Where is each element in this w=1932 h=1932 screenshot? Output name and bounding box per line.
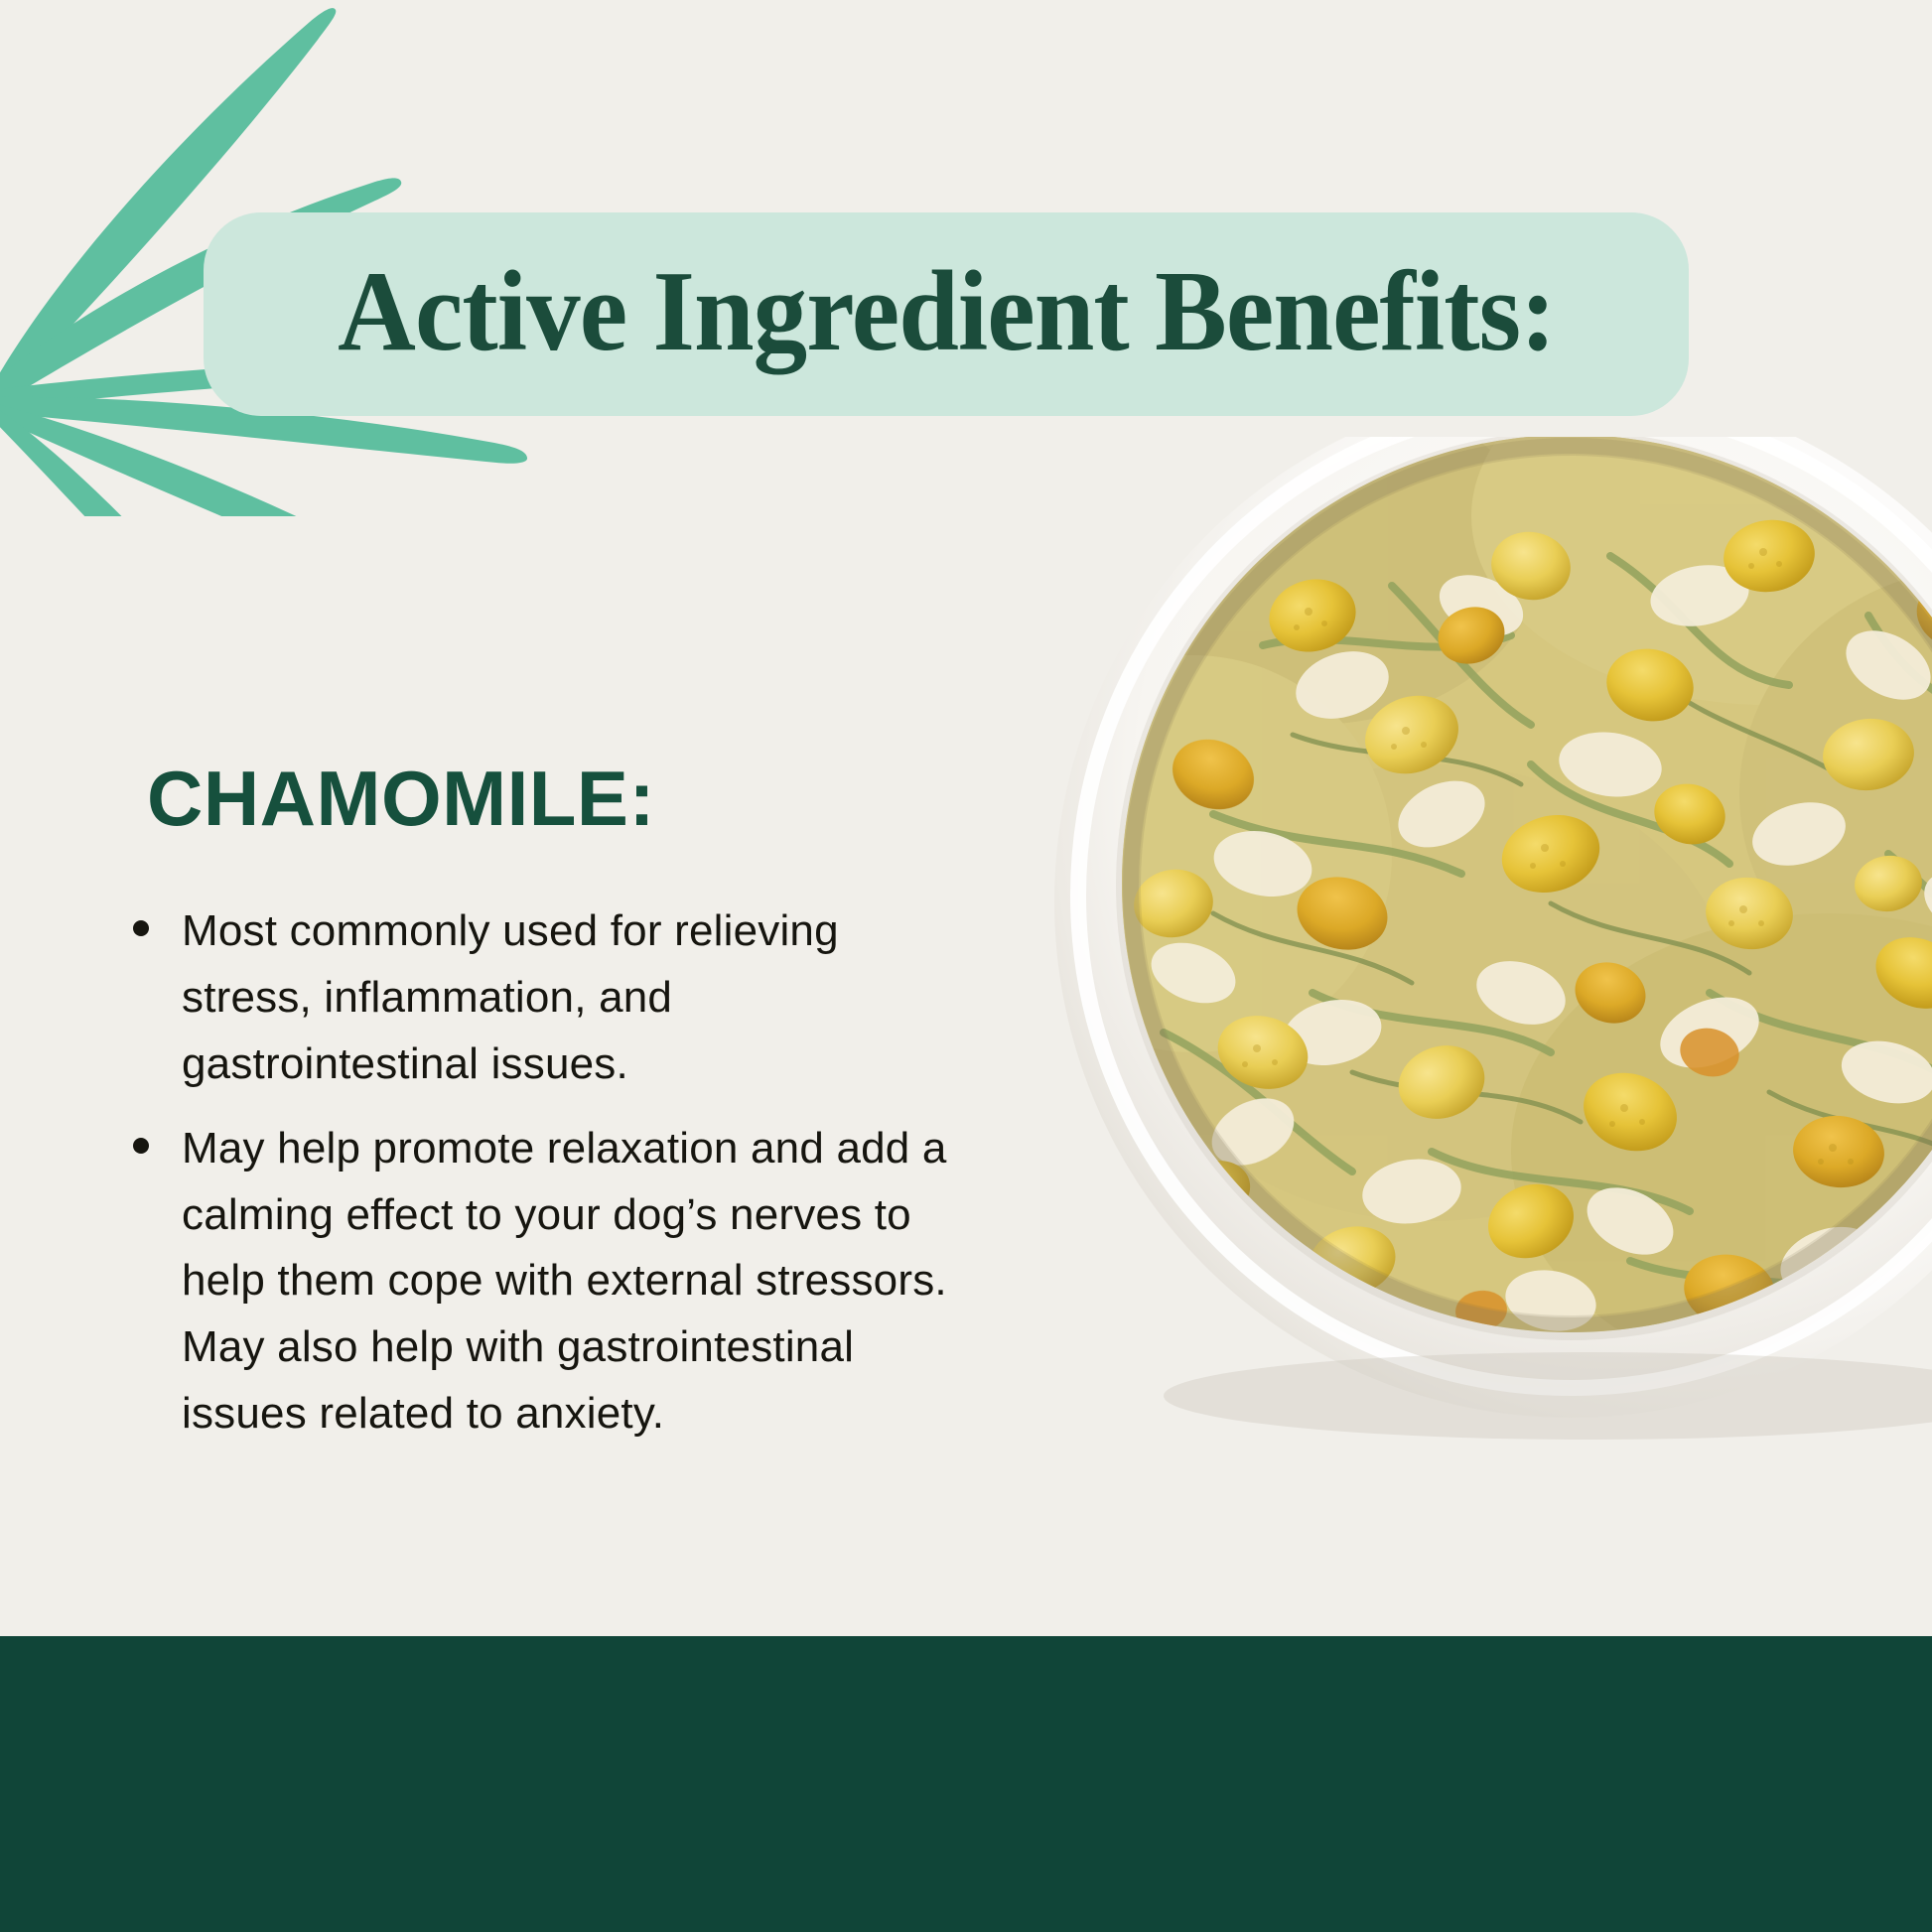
- page-title: Active Ingredient Benefits:: [338, 254, 1555, 369]
- benefit-list-item: Most commonly used for relieving stress,…: [127, 898, 961, 1098]
- bullet-point-icon: [133, 1138, 149, 1154]
- benefit-text: Most commonly used for relieving stress,…: [182, 906, 839, 1088]
- infographic-canvas: Active Ingredient Benefits: CHAMOMILE: M…: [0, 0, 1932, 1932]
- benefit-list-item: May help promote relaxation and add a ca…: [127, 1116, 961, 1448]
- chamomile-bowl-photo: [1015, 437, 1932, 1464]
- ingredient-heading: CHAMOMILE:: [147, 759, 655, 837]
- chamomile-flower-fill: [1015, 437, 1932, 1390]
- bullet-point-icon: [133, 920, 149, 936]
- footer-bar: [0, 1636, 1932, 1932]
- benefit-text: May help promote relaxation and add a ca…: [182, 1124, 947, 1439]
- benefits-list: Most commonly used for relieving stress,…: [127, 898, 961, 1465]
- title-banner: Active Ingredient Benefits:: [204, 212, 1689, 416]
